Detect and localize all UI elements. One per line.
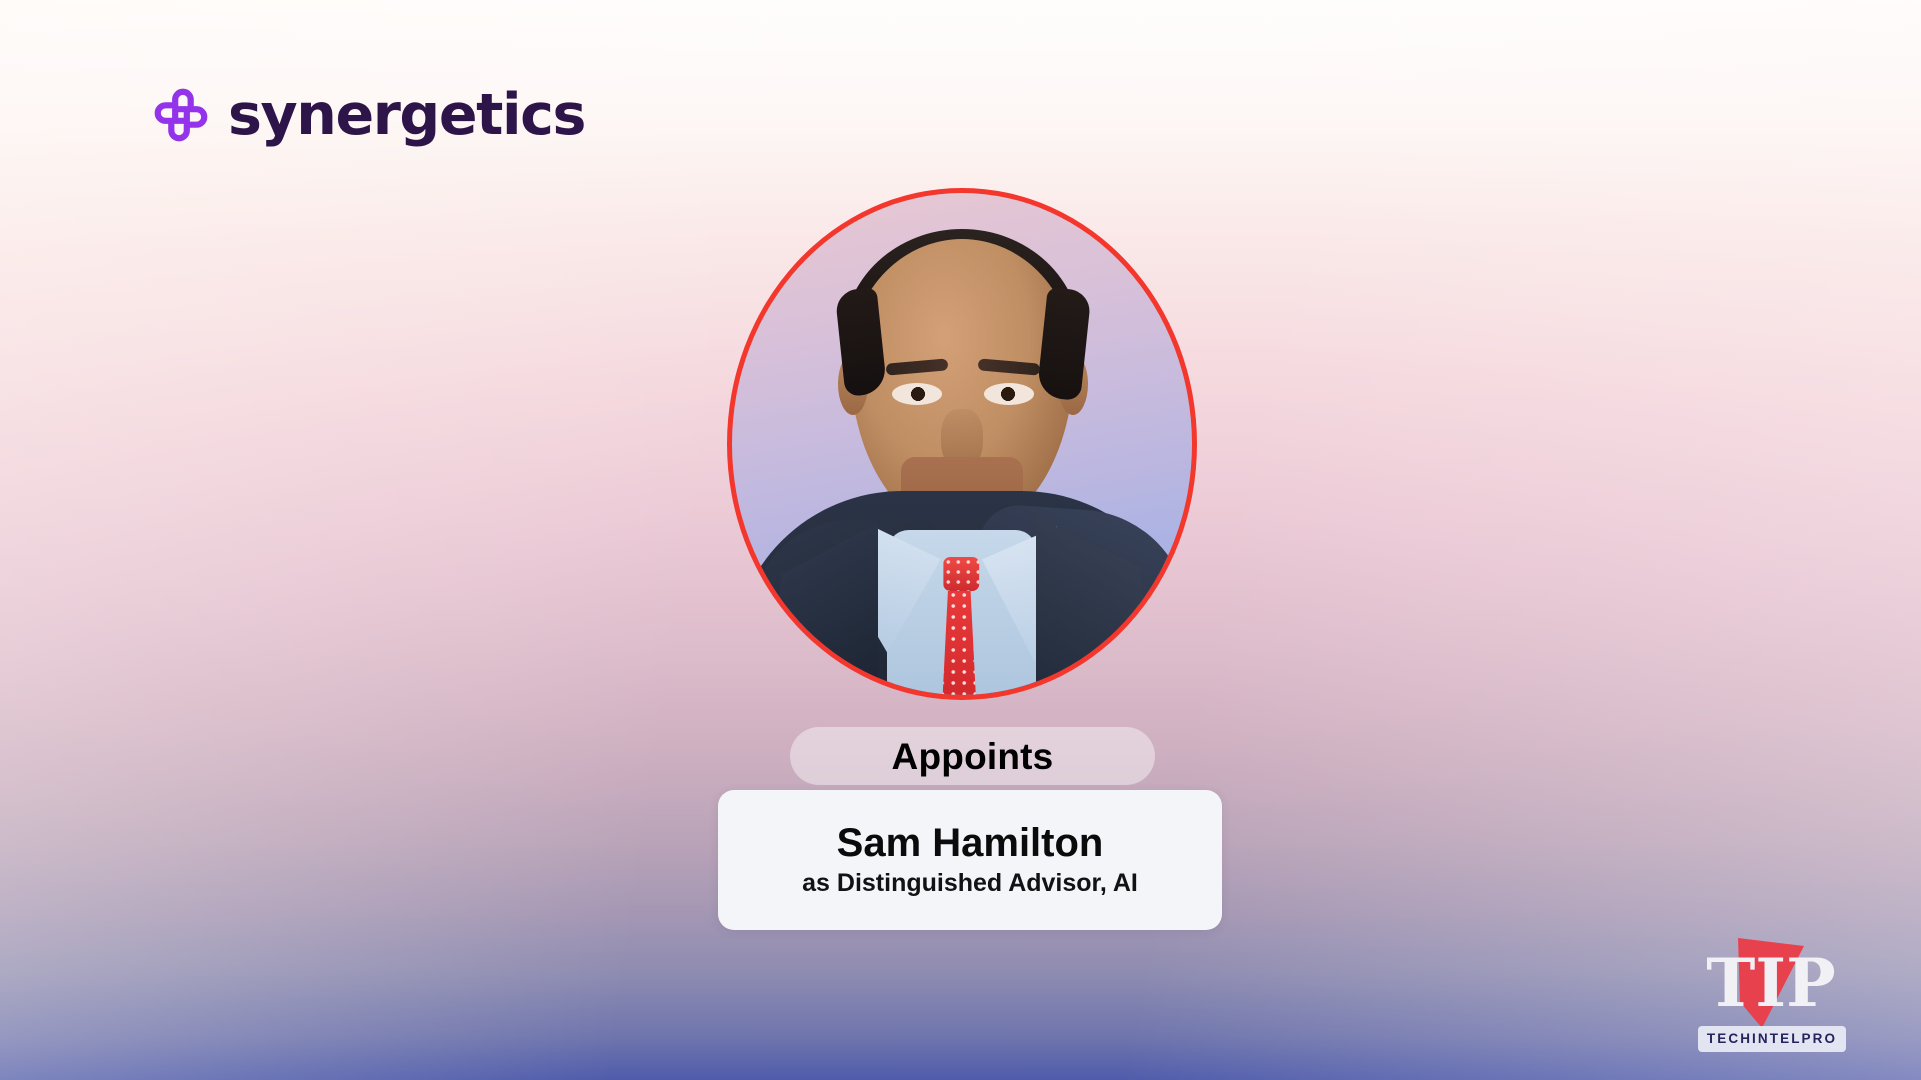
tip-mark-icon: TIP — [1676, 932, 1866, 1032]
appointee-name: Sam Hamilton — [837, 822, 1104, 864]
publisher-badge: TECHINTELPRO — [1698, 1026, 1846, 1052]
svg-text:TIP: TIP — [1706, 944, 1836, 1022]
publisher-badge-label: TECHINTELPRO — [1707, 1032, 1837, 1046]
appointee-role: as Distinguished Advisor, AI — [802, 870, 1138, 898]
appointee-card: Sam Hamilton as Distinguished Advisor, A… — [718, 790, 1222, 930]
interlocking-cross-icon — [150, 84, 212, 146]
eye-right — [984, 383, 1034, 405]
eye-left — [892, 383, 942, 405]
brand-logo: synergetics — [150, 84, 585, 146]
portrait-photo — [732, 193, 1192, 695]
brand-wordmark: synergetics — [228, 87, 585, 144]
appoints-label: Appoints — [892, 738, 1054, 775]
appoints-badge: Appoints — [790, 727, 1155, 785]
portrait-avatar — [727, 188, 1197, 700]
publisher-logo: TIP TECHINTELPRO — [1676, 932, 1866, 1062]
necktie-knot — [943, 557, 979, 591]
